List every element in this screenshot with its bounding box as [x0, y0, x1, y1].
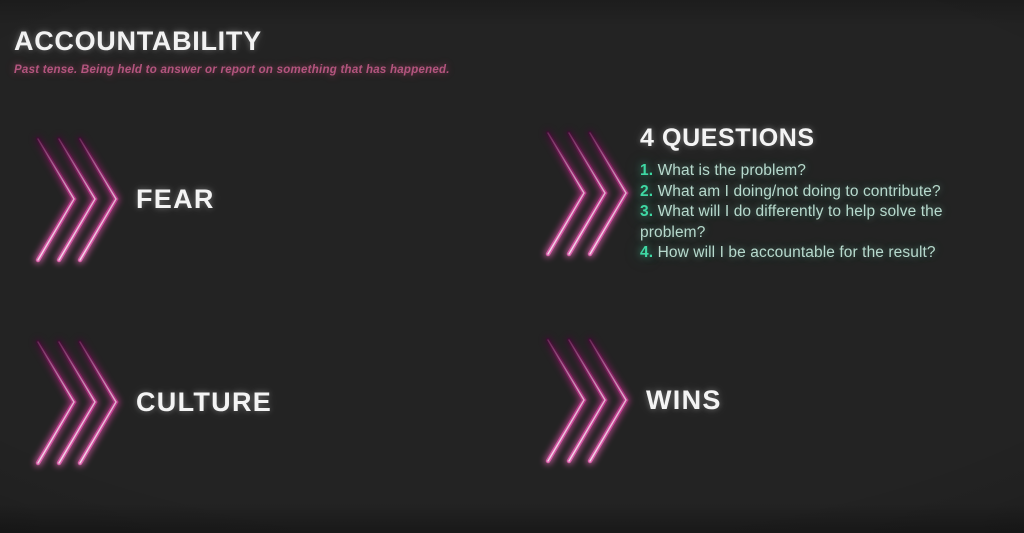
- cell-label-culture: CULTURE: [136, 387, 272, 418]
- cell-fear[interactable]: FEAR: [30, 133, 215, 266]
- list-item: 1. What is the problem?: [640, 161, 992, 182]
- page-subtitle: Past tense. Being held to answer or repo…: [14, 64, 450, 76]
- list-item-number: 3.: [640, 203, 653, 220]
- cell-culture[interactable]: CULTURE: [30, 336, 272, 469]
- cell-questions[interactable]: 4 QUESTIONS 1. What is the problem? 2. W…: [540, 127, 992, 264]
- list-item: 3. What will I do differently to help so…: [640, 202, 992, 243]
- list-item-text: What will I do differently to help solve…: [640, 203, 943, 241]
- list-item-text: What am I doing/not doing to contribute?: [658, 183, 941, 200]
- list-item-number: 1.: [640, 162, 653, 179]
- list-item-text: How will I be accountable for the result…: [658, 244, 936, 261]
- questions-list: 1. What is the problem? 2. What am I doi…: [640, 161, 992, 264]
- double-chevron-right-icon: [30, 336, 118, 469]
- cell-label-fear: FEAR: [136, 184, 215, 215]
- cell-label-wins: WINS: [646, 385, 722, 416]
- questions-block: 4 QUESTIONS 1. What is the problem? 2. W…: [640, 124, 992, 264]
- double-chevron-right-icon: [540, 334, 628, 467]
- questions-heading: 4 QUESTIONS: [640, 124, 992, 153]
- list-item-text: What is the problem?: [658, 162, 806, 179]
- double-chevron-right-icon: [30, 133, 118, 266]
- list-item-number: 2.: [640, 183, 653, 200]
- list-item: 2. What am I doing/not doing to contribu…: [640, 182, 992, 203]
- slide-canvas: ACCOUNTABILITY Past tense. Being held to…: [0, 0, 1024, 533]
- list-item: 4. How will I be accountable for the res…: [640, 243, 992, 264]
- page-title: ACCOUNTABILITY: [14, 26, 262, 57]
- list-item-number: 4.: [640, 244, 653, 261]
- double-chevron-right-icon: [540, 127, 628, 255]
- cell-wins[interactable]: WINS: [540, 334, 722, 467]
